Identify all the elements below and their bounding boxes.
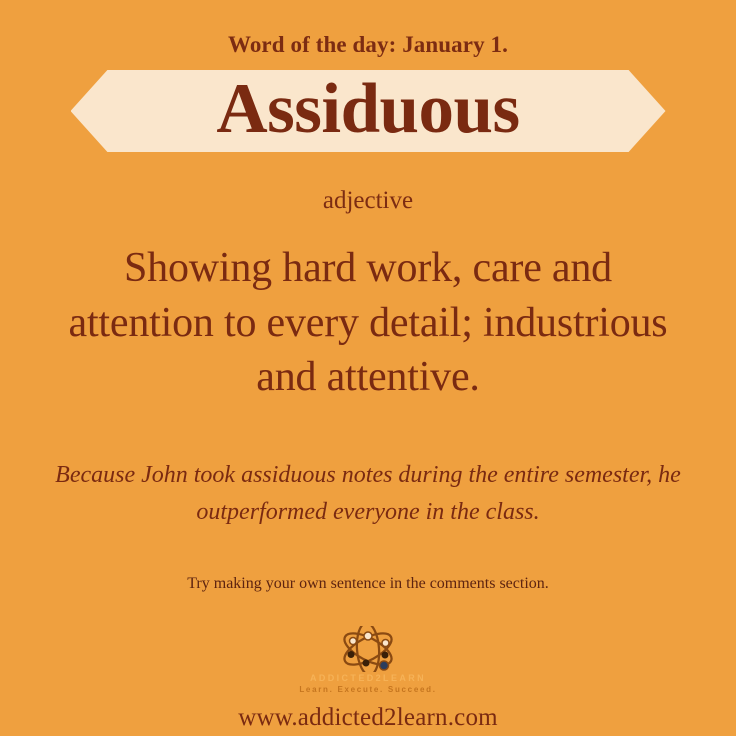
- vocabulary-word: Assiduous: [71, 70, 666, 152]
- example-sentence: Because John took assiduous notes during…: [48, 457, 688, 531]
- word-definition: Showing hard work, care and attention to…: [58, 241, 678, 405]
- brand-tagline: Learn. Execute. Succeed.: [299, 686, 436, 694]
- word-banner: Assiduous: [71, 70, 666, 152]
- footer-branding: ADDICTED2LEARN Learn. Execute. Succeed. …: [0, 626, 736, 730]
- brand-name: ADDICTED2LEARN: [310, 674, 426, 683]
- word-of-the-day-label: Word of the day: January 1.: [228, 33, 508, 56]
- atom-icon: [337, 626, 399, 672]
- word-of-the-day-card: Word of the day: January 1. Assiduous ad…: [0, 0, 736, 736]
- website-url[interactable]: www.addicted2learn.com: [238, 705, 498, 730]
- comments-call-to-action: Try making your own sentence in the comm…: [187, 576, 549, 592]
- part-of-speech: adjective: [323, 188, 413, 213]
